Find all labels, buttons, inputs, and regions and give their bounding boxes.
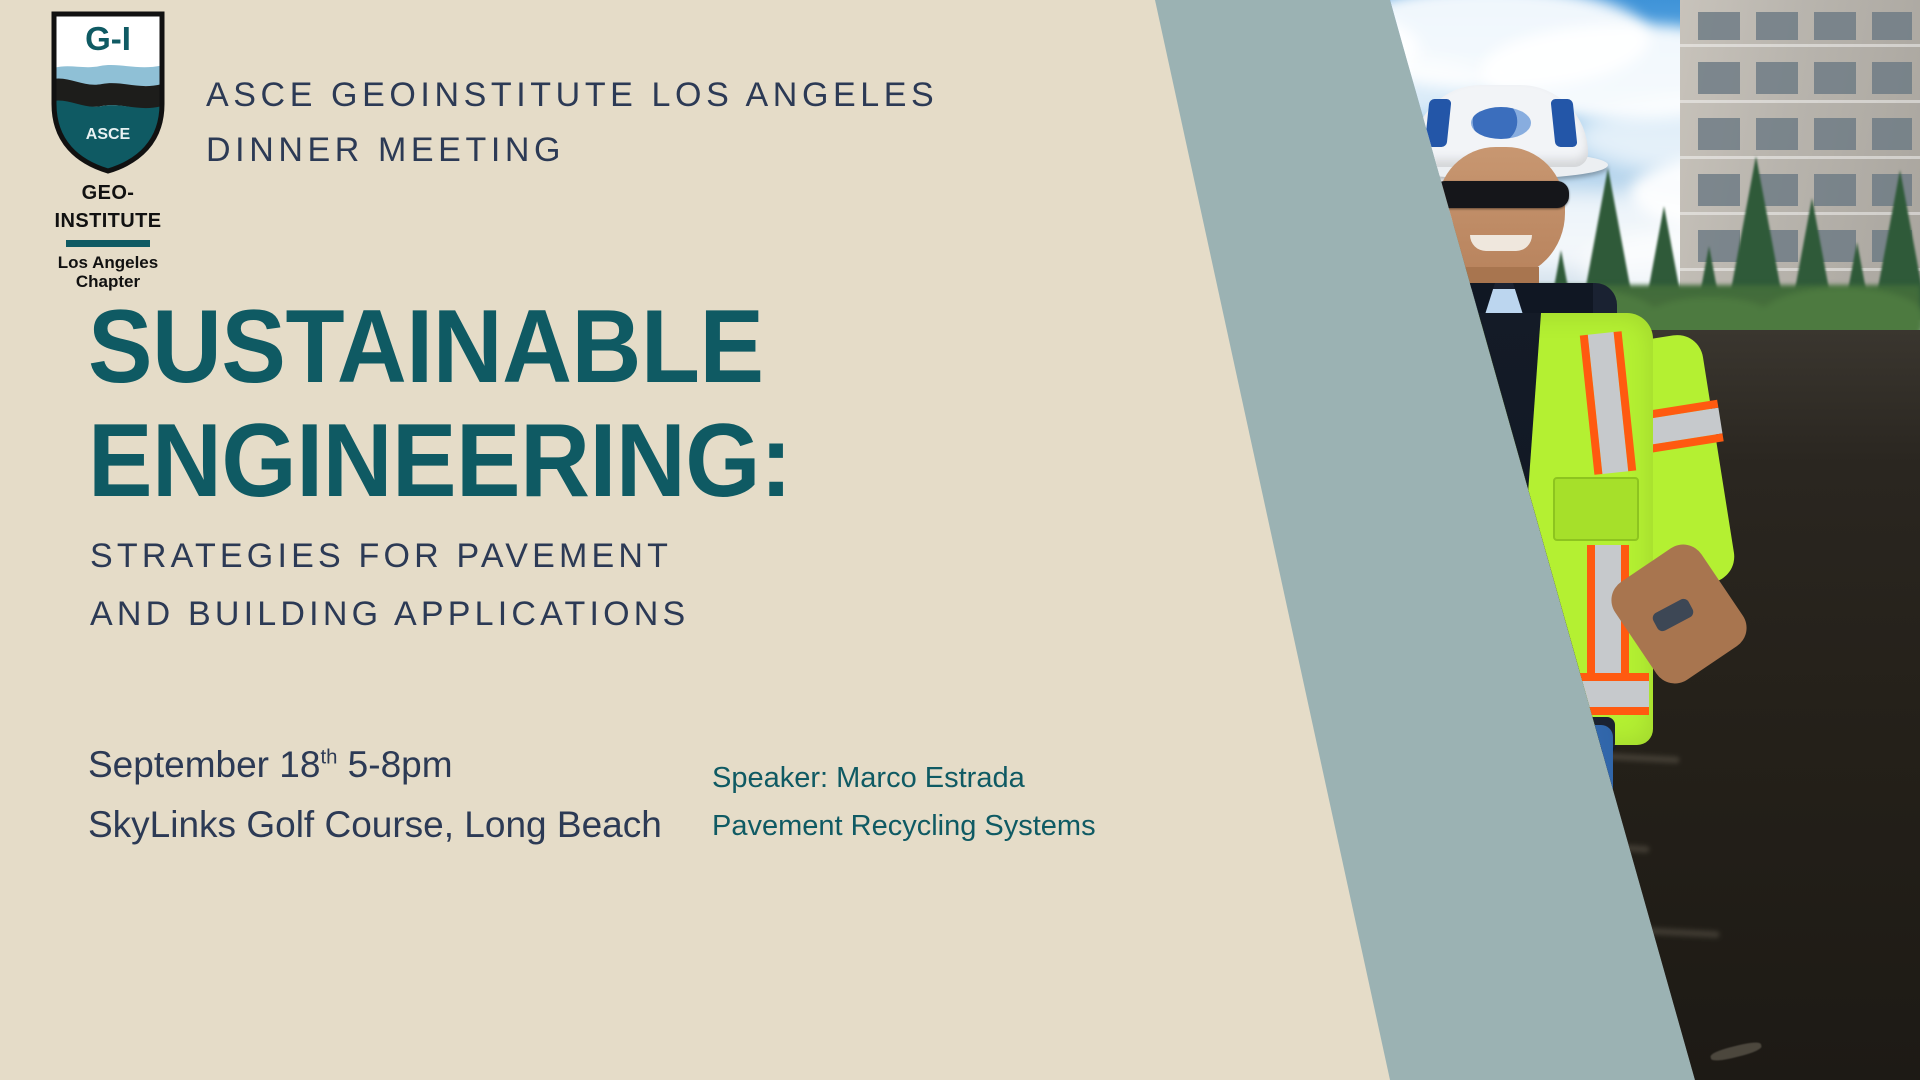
event-date: September 18 (88, 744, 320, 785)
vest-stripe-upper-right (1588, 332, 1628, 474)
speaker-info: Speaker: Marco Estrada Pavement Recyclin… (712, 755, 1096, 850)
event-flyer: G-I ASCE GEO- INSTITUTE Los Angeles Chap… (0, 0, 1920, 1080)
event-header: ASCE GEOINSTITUTE LOS ANGELES DINNER MEE… (206, 68, 1006, 178)
subtitle-line-1: STRATEGIES FOR PAVEMENT (90, 528, 990, 586)
logo-line-2: INSTITUTE (28, 210, 188, 232)
header-line-1: ASCE GEOINSTITUTE LOS ANGELES (206, 68, 1006, 123)
subtitle-line-2: AND BUILDING APPLICATIONS (90, 586, 990, 644)
logo-divider (66, 240, 150, 247)
date-ordinal: th (320, 747, 337, 769)
speaker-name: Speaker: Marco Estrada (712, 755, 1096, 803)
shield-icon: G-I ASCE (48, 8, 168, 176)
geo-institute-logo: G-I ASCE GEO- INSTITUTE Los Angeles Chap… (28, 8, 188, 270)
title-line-1: SUSTAINABLE (88, 290, 1018, 404)
event-date-line: September 18th 5-8pm (88, 735, 662, 795)
page-subtitle: STRATEGIES FOR PAVEMENT AND BUILDING APP… (90, 528, 990, 644)
hard-hat-logo (1471, 107, 1531, 139)
title-line-2: ENGINEERING: (88, 404, 1018, 518)
logo-line-1: GEO- (28, 182, 188, 204)
event-time: 5-8pm (337, 744, 452, 785)
event-venue: SkyLinks Golf Course, Long Beach (88, 795, 662, 855)
svg-text:G-I: G-I (85, 20, 131, 57)
logo-chapter: Los Angeles Chapter (28, 253, 188, 291)
hard-hat-blue-accent-right (1550, 99, 1577, 147)
page-title: SUSTAINABLE ENGINEERING: (88, 290, 1018, 519)
sunglasses (1433, 181, 1569, 208)
svg-text:ASCE: ASCE (86, 126, 131, 143)
flyer-content: G-I ASCE GEO- INSTITUTE Los Angeles Chap… (0, 0, 1155, 1080)
worker-smile (1470, 235, 1532, 251)
event-details: September 18th 5-8pm SkyLinks Golf Cours… (88, 735, 662, 855)
speaker-company: Pavement Recycling Systems (712, 803, 1096, 851)
header-line-2: DINNER MEETING (206, 123, 1006, 178)
vest-pocket-right (1553, 477, 1639, 541)
